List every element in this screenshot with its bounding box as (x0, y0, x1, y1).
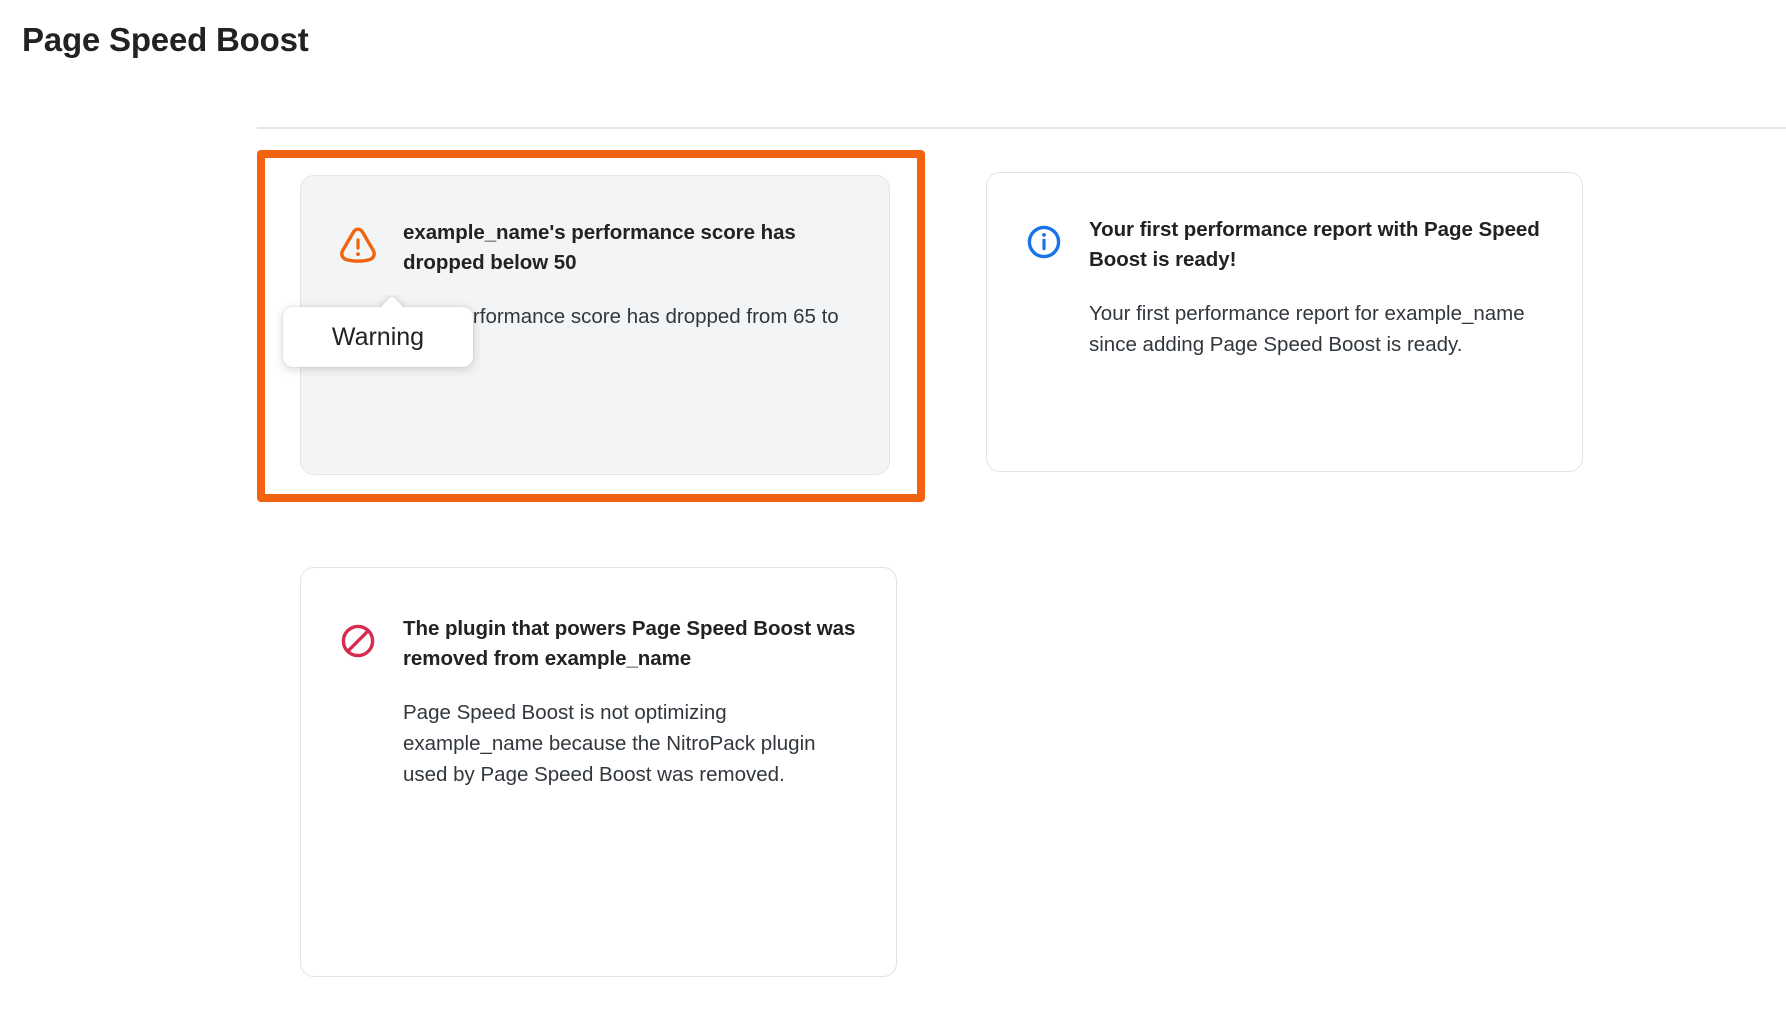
card-heading: Your first performance report with Page … (1089, 215, 1546, 275)
card-body: Your first performance report for exampl… (1089, 298, 1546, 360)
card-heading: example_name's performance score has dro… (403, 218, 853, 278)
card-text: The plugin that powers Page Speed Boost … (403, 614, 860, 790)
notification-card-removed[interactable]: The plugin that powers Page Speed Boost … (300, 567, 897, 977)
notification-card-info[interactable]: Your first performance report with Page … (986, 172, 1583, 472)
tooltip-label: Warning (332, 322, 424, 352)
card-content: Your first performance report with Page … (987, 173, 1582, 402)
tooltip-arrow-icon (379, 295, 405, 308)
section-divider (257, 127, 1786, 129)
warning-triangle-icon (335, 218, 381, 264)
card-body: Page Speed Boost is not optimizing examp… (403, 697, 860, 790)
prohibited-circle-icon (335, 614, 381, 660)
warning-tooltip: Warning (283, 307, 473, 367)
page-title: Page Speed Boost (22, 20, 309, 60)
card-heading: The plugin that powers Page Speed Boost … (403, 614, 860, 674)
card-content: example_name's performance score has dro… (301, 176, 889, 405)
page-root: Page Speed Boost example_name's performa… (0, 0, 1786, 1032)
card-content: The plugin that powers Page Speed Boost … (301, 568, 896, 832)
card-text: Your first performance report with Page … (1089, 215, 1546, 360)
info-circle-icon (1021, 215, 1067, 261)
